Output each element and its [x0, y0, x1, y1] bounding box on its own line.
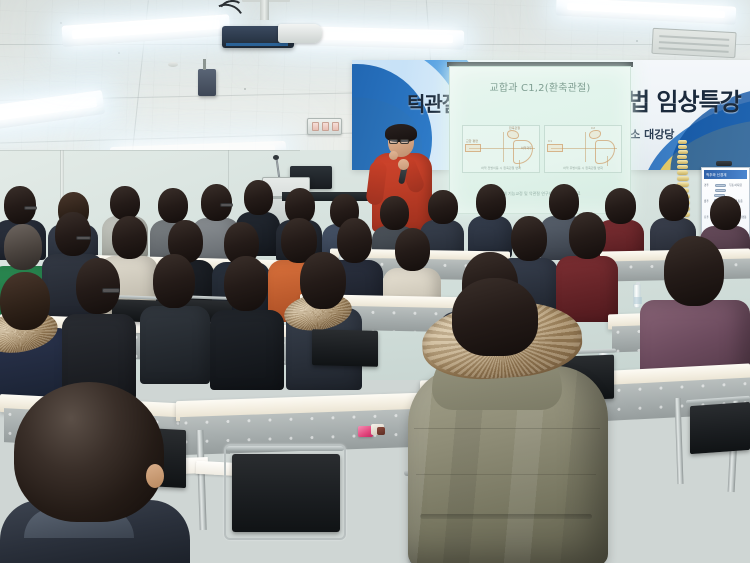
wall-trim: [0, 150, 300, 151]
diagram-label: C2: [591, 126, 595, 130]
poster-clip: [716, 161, 732, 166]
chair-backrest[interactable]: [690, 402, 750, 454]
diagram-label: C1: [548, 139, 552, 143]
ear: [146, 464, 164, 488]
poster-label: 두통·어지럼: [729, 184, 742, 188]
diagram-label: 교합 평면: [466, 139, 478, 143]
snack-package: [358, 424, 384, 438]
presenter-hand: [389, 151, 398, 160]
ceiling-speck: [60, 22, 62, 24]
banner-right-text: 법 임상특강: [628, 82, 741, 117]
slide-diagram-left: 교합 평면 환축관절 하악과두 하악 전방이동 시 환축관절 변화: [462, 125, 540, 173]
presenter-hand: [398, 159, 409, 170]
chair-frame: [224, 444, 346, 540]
air-vent: [651, 28, 736, 58]
diagram-label: 환축관절: [509, 126, 520, 130]
audience-member: [210, 256, 284, 388]
audience-member: [140, 254, 210, 382]
wall-speaker: [198, 69, 216, 96]
foreground-head: [14, 382, 164, 522]
poster-header-bar: 척추와 신경계: [704, 170, 747, 179]
slide-title: 교합과 C1,2(환축관절): [450, 79, 630, 94]
poster-header-text: 척추와 신경계: [706, 173, 726, 178]
slide-panel-caption: 하악 전방이동 시 환축관절 변화: [463, 166, 539, 170]
smoke-detector-icon: [168, 62, 178, 67]
foreground-audience-member: [0, 382, 200, 563]
lecture-hall-photo: 턱관절 ] 법 임상특강 구소 대강당 교합과 C1,2(환축관절) 교합 평면…: [0, 0, 750, 563]
ceiling-speck: [118, 52, 120, 54]
podium-microphone-icon: [273, 155, 279, 160]
parka-waist-elastic: [420, 514, 592, 519]
foreground-head: [452, 278, 538, 356]
diagram-label: 하악과두: [521, 146, 532, 150]
ceiling-speck: [244, 88, 246, 90]
audience-member: [62, 258, 136, 398]
ceiling-projector: [222, 16, 328, 50]
slide-panel-caption: 하악 후방이동 시 환축관절 변화: [545, 166, 621, 170]
slide-diagram-right: C1 C2 하악 후방이동 시 환축관절 변화: [544, 125, 622, 173]
poster-label: 경추: [704, 184, 709, 188]
ceiling-speck: [636, 40, 638, 42]
chair-backrest[interactable]: [312, 329, 378, 367]
wall-light-switch-panel[interactable]: [307, 118, 342, 135]
foreground-audience-member: [408, 278, 618, 563]
audience-member: [286, 252, 362, 388]
presenter-glasses: [389, 139, 398, 144]
presenter-glasses: [400, 139, 409, 144]
